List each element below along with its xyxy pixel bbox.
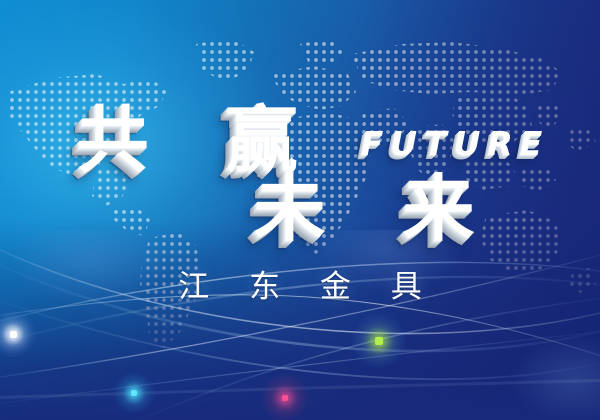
headline-row-2: 未 来 <box>0 173 600 245</box>
headline-cjk-gongying: 共 赢 <box>51 104 324 176</box>
banner-content: 共 赢 FUTURE 未 来 江 东 金 具 <box>0 0 600 420</box>
company-name-subtitle: 江 东 金 具 <box>0 272 600 303</box>
headline-cjk-weilai: 未 来 <box>227 173 500 245</box>
promo-banner: 共 赢 FUTURE 未 来 江 东 金 具 <box>0 0 600 420</box>
headline-row-1: 共 赢 FUTURE <box>0 104 600 176</box>
headline-latin-future: FUTURE <box>354 127 550 160</box>
